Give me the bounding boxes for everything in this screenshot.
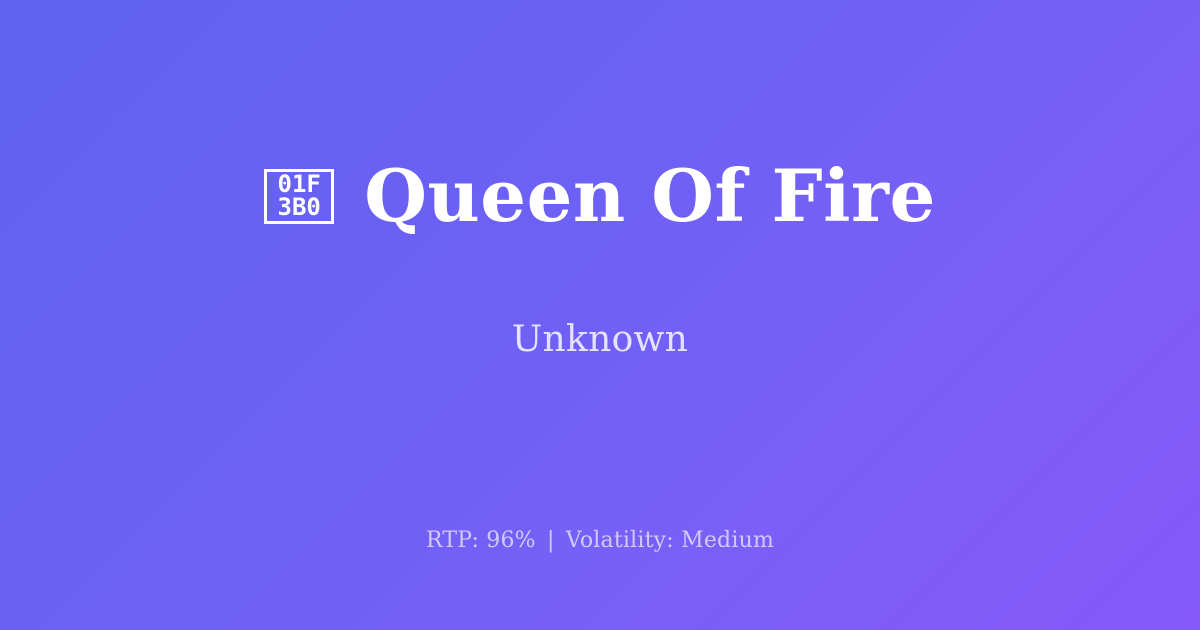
slot-machine-icon: 01F 3B0 (264, 169, 334, 224)
volatility-label: Volatility: (566, 528, 674, 553)
rtp-value: 96% (486, 528, 536, 553)
tofu-codepoint-bottom: 3B0 (278, 196, 321, 220)
rtp-label: RTP: (426, 528, 479, 553)
game-meta-line: RTP: 96% | Volatility: Medium (0, 528, 1200, 554)
title-row: 01F 3B0 Queen Of Fire (264, 110, 936, 282)
provider-label: Unknown (512, 320, 688, 360)
meta-separator: | (543, 528, 559, 553)
hero-block: 01F 3B0 Queen Of Fire Unknown (0, 0, 1200, 470)
game-og-card: 01F 3B0 Queen Of Fire Unknown RTP: 96% |… (0, 0, 1200, 630)
page-title: Queen Of Fire (364, 158, 936, 234)
volatility-value: Medium (681, 528, 774, 553)
